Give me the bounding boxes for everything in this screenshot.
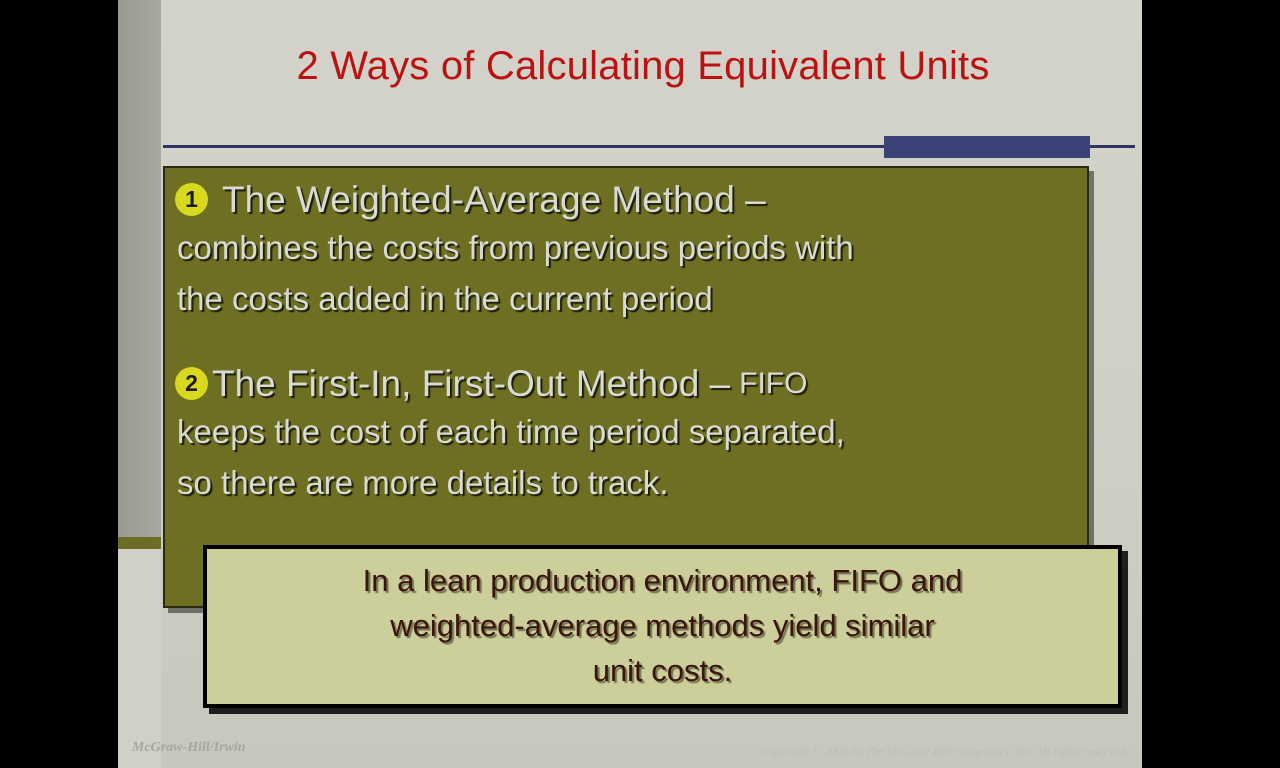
slide-canvas: 2 Ways of Calculating Equivalent Units 1… <box>118 0 1142 768</box>
bullet-2-lead-text: The First-In, First-Out Method – <box>212 364 730 404</box>
callout-box: In a lean production environment, FIFO a… <box>203 545 1122 708</box>
bullet-2-lead-suffix: FIFO <box>739 368 807 400</box>
left-decor-band-lower <box>118 549 161 768</box>
footer-publisher: McGraw-Hill/Irwin <box>132 740 246 756</box>
bullet-2-heading: 2 The First-In, First-Out Method – FIFO <box>175 364 1075 404</box>
title-accent-block <box>884 136 1090 158</box>
callout-line-3: unit costs. <box>363 649 963 694</box>
slide-root: 2 Ways of Calculating Equivalent Units 1… <box>0 0 1280 768</box>
bullet-1-body-line-1: combines the costs from previous periods… <box>177 222 1075 273</box>
number-badge-2-icon: 2 <box>175 367 208 400</box>
callout-line-1: In a lean production environment, FIFO a… <box>363 559 963 604</box>
left-decor-band <box>118 0 161 545</box>
bullet-2-body-line-1: keeps the cost of each time period separ… <box>177 406 1075 457</box>
slide-title: 2 Ways of Calculating Equivalent Units <box>163 44 1123 89</box>
content-box: 1 The Weighted-Average Method – combines… <box>163 166 1089 608</box>
footer-copyright: Copyright © 2008 by The McGraw-Hill Comp… <box>761 744 1128 759</box>
bullet-item-2: 2 The First-In, First-Out Method – FIFO … <box>175 364 1075 508</box>
bullet-2-body: keeps the cost of each time period separ… <box>175 406 1075 508</box>
left-decor-band-accent <box>118 537 161 549</box>
bullet-2-body-line-2: so there are more details to track. <box>177 457 1075 508</box>
bullet-1-body-line-2: the costs added in the current period <box>177 273 1075 324</box>
bullet-1-heading: 1 The Weighted-Average Method – <box>175 180 1075 220</box>
bullet-item-1: 1 The Weighted-Average Method – combines… <box>175 180 1075 324</box>
callout-line-2: weighted-average methods yield similar <box>363 604 963 649</box>
bullet-1-lead-text: The Weighted-Average Method – <box>222 180 766 220</box>
bullet-1-body: combines the costs from previous periods… <box>175 222 1075 324</box>
callout-text: In a lean production environment, FIFO a… <box>335 559 991 694</box>
number-badge-1-icon: 1 <box>175 183 208 216</box>
